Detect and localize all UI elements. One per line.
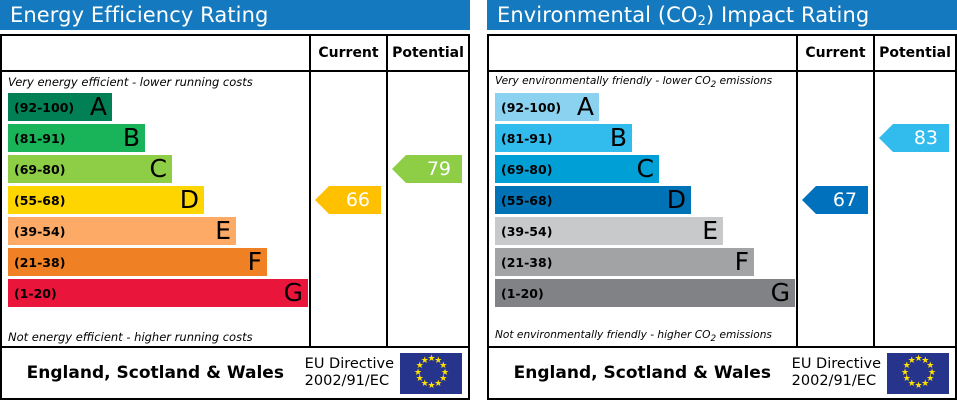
band-range-c: (69-80) <box>495 162 552 177</box>
band-letter-d: D <box>667 187 686 212</box>
band-bar-a: (92-100)A <box>495 93 599 121</box>
co2-bottom-caption: Not environmentally friendly - higher CO… <box>495 329 772 344</box>
co2-eu-directive-label: EU Directive 2002/91/EC <box>792 356 887 389</box>
band-letter-b: B <box>123 125 140 150</box>
co2-table-header-row: Current Potential <box>489 36 955 72</box>
energy-current-rating-arrow: 66 <box>315 186 381 214</box>
band-range-a: (92-100) <box>495 100 561 115</box>
band-letter-g: G <box>771 280 790 305</box>
co2-potential-rating-arrow: 83 <box>879 124 949 152</box>
co2-impact-title: Environmental (CO2) Impact Rating <box>487 0 957 30</box>
energy-band-bars: (92-100)A(81-91)B(69-80)C(55-68)D(39-54)… <box>8 93 308 310</box>
energy-eu-directive-label: EU Directive 2002/91/EC <box>305 356 400 389</box>
header-current-energy: Current <box>309 36 386 70</box>
band-letter-f: F <box>248 249 262 274</box>
directive-line-1: EU Directive <box>305 356 394 373</box>
band-bar-c: (69-80)C <box>495 155 659 183</box>
header-potential-co2: Potential <box>873 36 955 70</box>
co2-footer: England, Scotland & Wales EU Directive 2… <box>489 346 955 398</box>
band-bar-f: (21-38)F <box>8 248 267 276</box>
energy-bottom-caption: Not energy efficient - higher running co… <box>8 330 253 344</box>
band-range-g: (1-20) <box>495 286 544 301</box>
band-bar-a: (92-100)A <box>8 93 112 121</box>
band-range-f: (21-38) <box>8 255 65 270</box>
band-letter-a: A <box>577 94 594 119</box>
energy-efficiency-title: Energy Efficiency Rating <box>0 0 470 30</box>
band-bar-g: (1-20)G <box>495 279 795 307</box>
co2-band-bars: (92-100)A(81-91)B(69-80)C(55-68)D(39-54)… <box>495 93 795 310</box>
band-range-d: (55-68) <box>8 193 65 208</box>
co2-title-subscript: 2 <box>698 14 706 29</box>
band-letter-e: E <box>215 218 231 243</box>
band-range-a: (92-100) <box>8 100 74 115</box>
band-letter-g: G <box>284 280 303 305</box>
column-divider-current-co2 <box>796 72 798 346</box>
co2-top-caption: Very environmentally friendly - lower CO… <box>495 75 772 90</box>
energy-efficiency-body: Current Potential Very energy efficient … <box>0 34 470 400</box>
epc-charts-stage: Energy Efficiency Rating Current Potenti… <box>0 0 957 404</box>
band-letter-e: E <box>702 218 718 243</box>
energy-chart-area: Very energy efficient - lower running co… <box>2 72 468 346</box>
directive-line-2: 2002/91/EC <box>305 373 394 390</box>
header-current-co2: Current <box>796 36 873 70</box>
co2-chart-area: Very environmentally friendly - lower CO… <box>489 72 955 346</box>
directive-line-2: 2002/91/EC <box>792 373 881 390</box>
band-range-e: (39-54) <box>8 224 65 239</box>
band-range-b: (81-91) <box>8 131 65 146</box>
band-letter-c: C <box>150 156 167 181</box>
co2-title-prefix: Environmental (CO <box>497 3 698 27</box>
co2-title-suffix: ) Impact Rating <box>706 3 869 27</box>
band-range-d: (55-68) <box>495 193 552 208</box>
co2-impact-body: Current Potential Very environmentally f… <box>487 34 957 400</box>
band-letter-b: B <box>610 125 627 150</box>
energy-footer: England, Scotland & Wales EU Directive 2… <box>2 346 468 398</box>
energy-top-caption: Very energy efficient - lower running co… <box>8 75 253 89</box>
band-bar-d: (55-68)D <box>8 186 204 214</box>
co2-bottom-caption-prefix: Not environmentally friendly - higher CO <box>495 329 710 341</box>
eu-flag-star: ★ <box>908 358 915 365</box>
band-letter-d: D <box>180 187 199 212</box>
band-letter-a: A <box>90 94 107 119</box>
band-bar-f: (21-38)F <box>495 248 754 276</box>
column-divider-potential-energy <box>386 72 388 346</box>
co2-impact-panel: Environmental (CO2) Impact Rating Curren… <box>487 0 957 404</box>
energy-table-header-row: Current Potential <box>2 36 468 72</box>
eu-flag-icon: ★★★★★★★★★★★★ <box>887 353 949 394</box>
header-potential-energy: Potential <box>386 36 468 70</box>
eu-flag-star: ★ <box>421 358 428 365</box>
band-bar-c: (69-80)C <box>8 155 172 183</box>
co2-region-label: England, Scotland & Wales <box>489 363 792 383</box>
band-bar-b: (81-91)B <box>8 124 145 152</box>
column-divider-current-energy <box>309 72 311 346</box>
co2-current-rating-arrow: 67 <box>802 186 868 214</box>
band-bar-g: (1-20)G <box>8 279 308 307</box>
band-range-b: (81-91) <box>495 131 552 146</box>
directive-line-1: EU Directive <box>792 356 881 373</box>
band-bar-e: (39-54)E <box>8 217 236 245</box>
co2-top-caption-prefix: Very environmentally friendly - lower CO <box>495 75 711 87</box>
eu-flag-icon: ★★★★★★★★★★★★ <box>400 353 462 394</box>
band-bar-b: (81-91)B <box>495 124 632 152</box>
band-range-f: (21-38) <box>495 255 552 270</box>
column-divider-potential-co2 <box>873 72 875 346</box>
energy-region-label: England, Scotland & Wales <box>2 363 305 383</box>
band-range-g: (1-20) <box>8 286 57 301</box>
energy-efficiency-panel: Energy Efficiency Rating Current Potenti… <box>0 0 470 404</box>
co2-bottom-caption-suffix: emissions <box>716 329 772 341</box>
band-range-e: (39-54) <box>495 224 552 239</box>
co2-top-caption-suffix: emissions <box>716 75 772 87</box>
energy-potential-rating-arrow: 79 <box>392 155 462 183</box>
band-range-c: (69-80) <box>8 162 65 177</box>
band-letter-c: C <box>637 156 654 181</box>
band-bar-d: (55-68)D <box>495 186 691 214</box>
band-bar-e: (39-54)E <box>495 217 723 245</box>
band-letter-f: F <box>735 249 749 274</box>
